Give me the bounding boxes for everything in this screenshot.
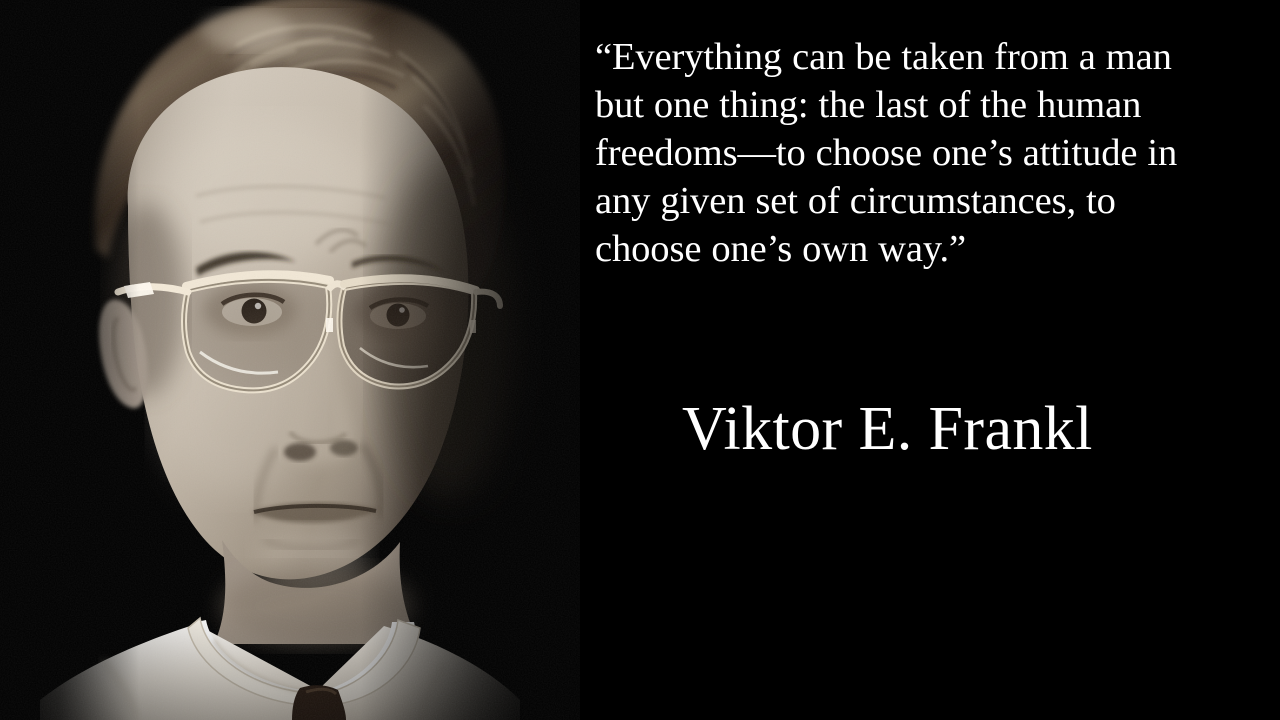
quote-line-4: any given set of circumstances, to <box>595 177 1263 225</box>
quote-line-1: “Everything can be taken from a man <box>595 33 1263 81</box>
portrait-photo <box>0 0 580 720</box>
quote-line-5: choose one’s own way.” <box>595 225 1263 273</box>
quote-line-3: freedoms—to choose one’s attitude in <box>595 129 1263 177</box>
text-column: “Everything can be taken from a man but … <box>592 0 1280 720</box>
quote-poster: “Everything can be taken from a man but … <box>0 0 1280 720</box>
author-attribution: Viktor E. Frankl <box>682 394 1093 464</box>
quote-text: “Everything can be taken from a man but … <box>595 33 1263 273</box>
quote-line-2: but one thing: the last of the human <box>595 81 1263 129</box>
